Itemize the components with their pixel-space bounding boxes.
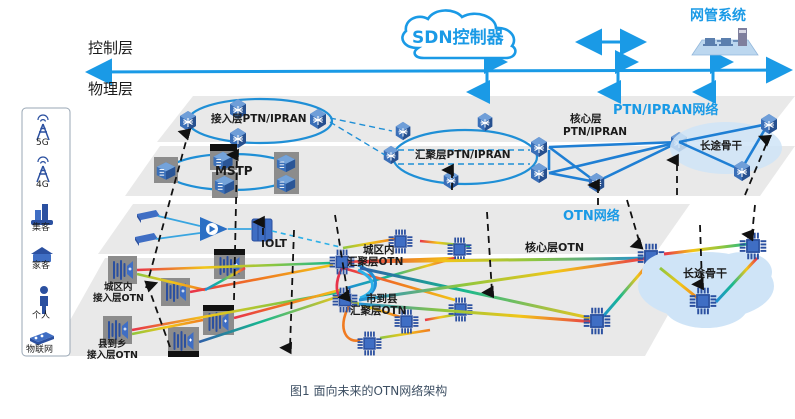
otn-access-urban-line1: 城区内: [104, 283, 133, 293]
ptn-backbone-label: 长途骨干: [700, 141, 742, 152]
physical-layer-label: 物理层: [88, 82, 133, 98]
legend-label-enterprise: 集客: [32, 224, 50, 233]
otn-access-county-line2: 接入层OTN: [87, 351, 138, 361]
otn-network-title: OTN网络: [563, 210, 620, 224]
legend-label-iot: 物联网: [26, 346, 53, 355]
control-layer-label: 控制层: [88, 41, 133, 57]
nms-title-label: 网管系统: [690, 9, 746, 24]
otn-access-county-line1: 县到乡: [98, 340, 127, 350]
otn-access-urban-line2: 接入层OTN: [93, 294, 144, 304]
legend-label-5g: 5G: [36, 139, 49, 148]
mstp-ring-label: MSTP: [215, 165, 253, 178]
figure-caption: 图1 面向未来的OTN网络架构: [290, 385, 447, 398]
otn-core-label: 核心层OTN: [525, 242, 584, 254]
ptn-access-ring-label: 接入层PTN/IPRAN: [211, 114, 307, 125]
otn-backbone-label: 长途骨干: [683, 268, 727, 280]
ptn-core-label-line2: PTN/IPRAN: [563, 127, 627, 138]
figure-canvas: 控制层 物理层 SDN控制器 网管系统 5G 4G 集客 家客 个人 物联网 接…: [0, 0, 795, 419]
flow-bb2-down: [752, 205, 755, 235]
otn-agg-county-line1: 市到县: [366, 294, 398, 305]
ptn-aggregation-label: 汇聚层PTN/IPRAN: [415, 150, 511, 161]
otn-agg-urban-line1: 城区内: [363, 245, 395, 256]
ptn-core-label-line1: 核心层: [570, 114, 602, 125]
sdn-controller-label: SDN控制器: [412, 30, 504, 48]
legend-label-4g: 4G: [36, 181, 49, 190]
otn-agg-county-line2: 汇聚层OTN: [350, 306, 406, 317]
ptn-network-title: PTN/IPRAN网络: [613, 104, 718, 118]
otn-agg-urban-line2: 汇聚层OTN: [347, 257, 403, 268]
olt-label: OLT: [265, 238, 287, 250]
nms-icon: [692, 28, 758, 55]
legend-label-home: 家客: [32, 262, 50, 271]
legend-label-person: 个人: [32, 312, 50, 321]
